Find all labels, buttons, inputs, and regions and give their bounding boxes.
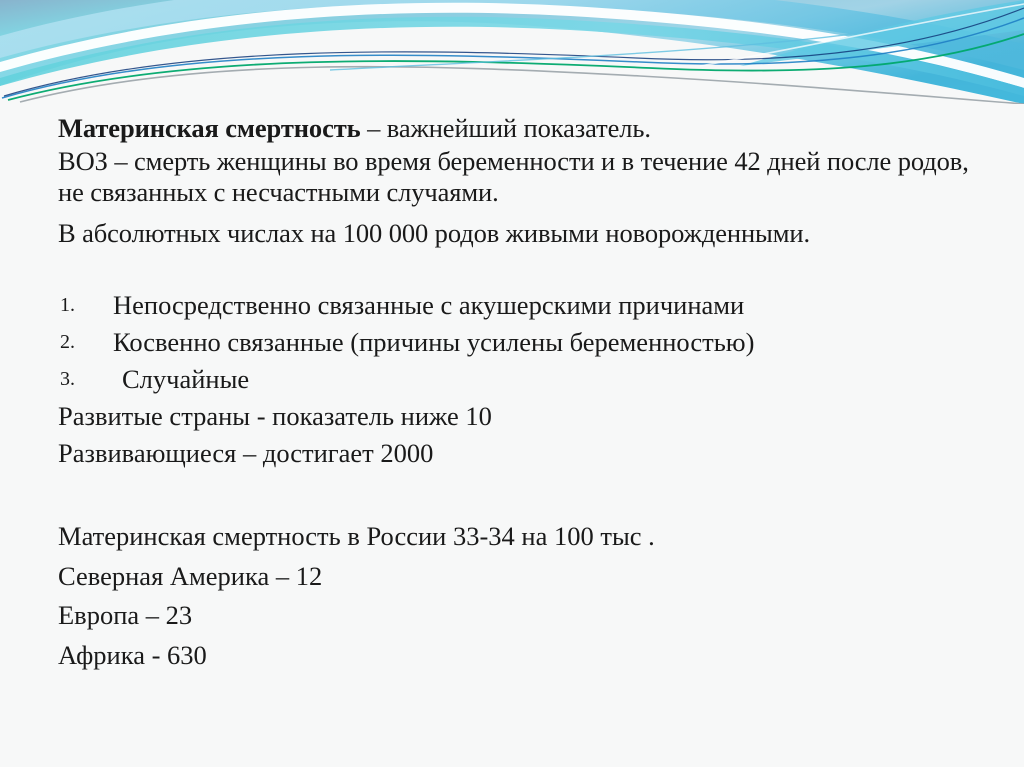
- line-north-america-statistic: Северная Америка – 12: [58, 557, 970, 597]
- line-europe-statistic: Европа – 23: [58, 596, 970, 636]
- term-maternal-mortality: Материнская смертность: [58, 113, 361, 143]
- list-item: 3.Случайные: [58, 361, 970, 398]
- line-developing-countries: Развивающиеся – достигает 2000: [58, 435, 970, 472]
- list-item: 2.Косвенно связанные (причины усилены бе…: [58, 324, 970, 361]
- banner-green-accent-line: [8, 34, 1024, 100]
- banner-white-ribbon: [0, 3, 1024, 88]
- presentation-slide: Материнская смертность – важнейший показ…: [0, 0, 1024, 767]
- list-item: 1.Непосредственно связанные с акушерским…: [58, 287, 970, 324]
- banner-base-fill: [0, 0, 1024, 104]
- line-developed-countries: Развитые страны - показатель ниже 10: [58, 398, 970, 435]
- line-africa-statistic: Африка - 630: [58, 636, 970, 676]
- line-russia-statistic: Материнская смертность в России 33-34 на…: [58, 517, 970, 557]
- spacer-before-list: [58, 249, 970, 287]
- paragraph-who-definition: ВОЗ – смерть женщины во время беременнос…: [58, 145, 970, 209]
- paragraph-definition-title: Материнская смертность – важнейший показ…: [58, 104, 970, 145]
- banner-gray-accent-line: [20, 67, 1024, 104]
- banner-teal-band: [0, 17, 1024, 96]
- banner-svg: [0, 0, 1024, 104]
- slide-body: Материнская смертность – важнейший показ…: [58, 104, 970, 675]
- banner-white-accent-line: [700, 4, 1024, 66]
- decorative-wave-banner: [0, 0, 1024, 104]
- list-marker: 3.: [60, 361, 75, 398]
- banner-blue-accent-line: [2, 18, 1024, 98]
- list-marker: 2.: [60, 324, 75, 361]
- list-item-label: Косвенно связанные (причины усилены бере…: [113, 327, 754, 357]
- banner-overlay-fill: [0, 0, 1024, 104]
- banner-white-lower-shape: [0, 21, 1024, 104]
- banner-right-diagonal-band: [740, 0, 1024, 66]
- paragraph-definition-title-rest: – важнейший показатель.: [361, 113, 651, 143]
- spacer-before-regional-stats: [58, 472, 970, 517]
- banner-pale-band: [0, 0, 1024, 70]
- banner-light-accent-line: [330, 2, 1024, 70]
- list-item-label: Непосредственно связанные с акушерскими …: [113, 290, 744, 320]
- paragraph-absolute-numbers: В абсолютных числах на 100 000 родов жив…: [58, 209, 970, 250]
- causes-numbered-list: 1.Непосредственно связанные с акушерским…: [58, 287, 970, 398]
- list-item-label: Случайные: [122, 364, 249, 394]
- banner-navy-accent-line: [4, 8, 1024, 96]
- list-marker: 1.: [60, 287, 75, 324]
